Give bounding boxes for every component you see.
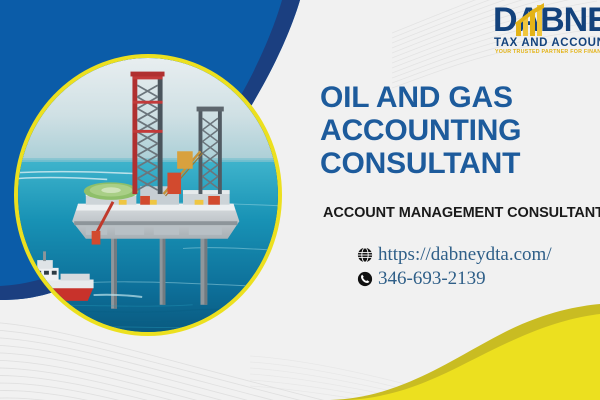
phone-row[interactable]: 346-693-2139 bbox=[357, 267, 552, 291]
logo-subtitle: TAX AND ACCOUNTING bbox=[494, 37, 600, 49]
offshore-rig-illustration bbox=[18, 58, 278, 332]
promotional-banner: DABNEY TAX AND ACCOUNTING YOUR TRUSTED P… bbox=[0, 0, 600, 400]
company-logo[interactable]: DABNEY TAX AND ACCOUNTING YOUR TRUSTED P… bbox=[493, 3, 600, 59]
subtitle: ACCOUNT MANAGEMENT CONSULTANT bbox=[323, 205, 600, 221]
website-link[interactable]: https://dabneydta.com/ bbox=[378, 245, 552, 265]
contact-info: https://dabneydta.com/ 346-693-2139 bbox=[357, 243, 552, 291]
globe-icon bbox=[357, 247, 373, 263]
decorative-lines-bottom-center bbox=[250, 348, 480, 400]
website-row[interactable]: https://dabneydta.com/ bbox=[357, 243, 552, 267]
headline-line-3: CONSULTANT bbox=[320, 147, 600, 180]
phone-number[interactable]: 346-693-2139 bbox=[378, 269, 486, 289]
yellow-wave-decoration bbox=[330, 300, 600, 400]
headline-line-1: OIL AND GAS bbox=[320, 81, 600, 114]
page-title: OIL AND GAS ACCOUNTING CONSULTANT bbox=[320, 81, 600, 180]
rig-photo-circle bbox=[14, 54, 282, 336]
rig-photo bbox=[18, 58, 278, 332]
phone-icon bbox=[357, 271, 373, 287]
logo-wordmark: DABNEY bbox=[493, 3, 600, 37]
bar-chart-growth-icon bbox=[514, 3, 548, 36]
logo-tagline: YOUR TRUSTED PARTNER FOR FINANCIAL CLARI… bbox=[495, 49, 600, 55]
headline-line-2: ACCOUNTING bbox=[320, 114, 600, 147]
